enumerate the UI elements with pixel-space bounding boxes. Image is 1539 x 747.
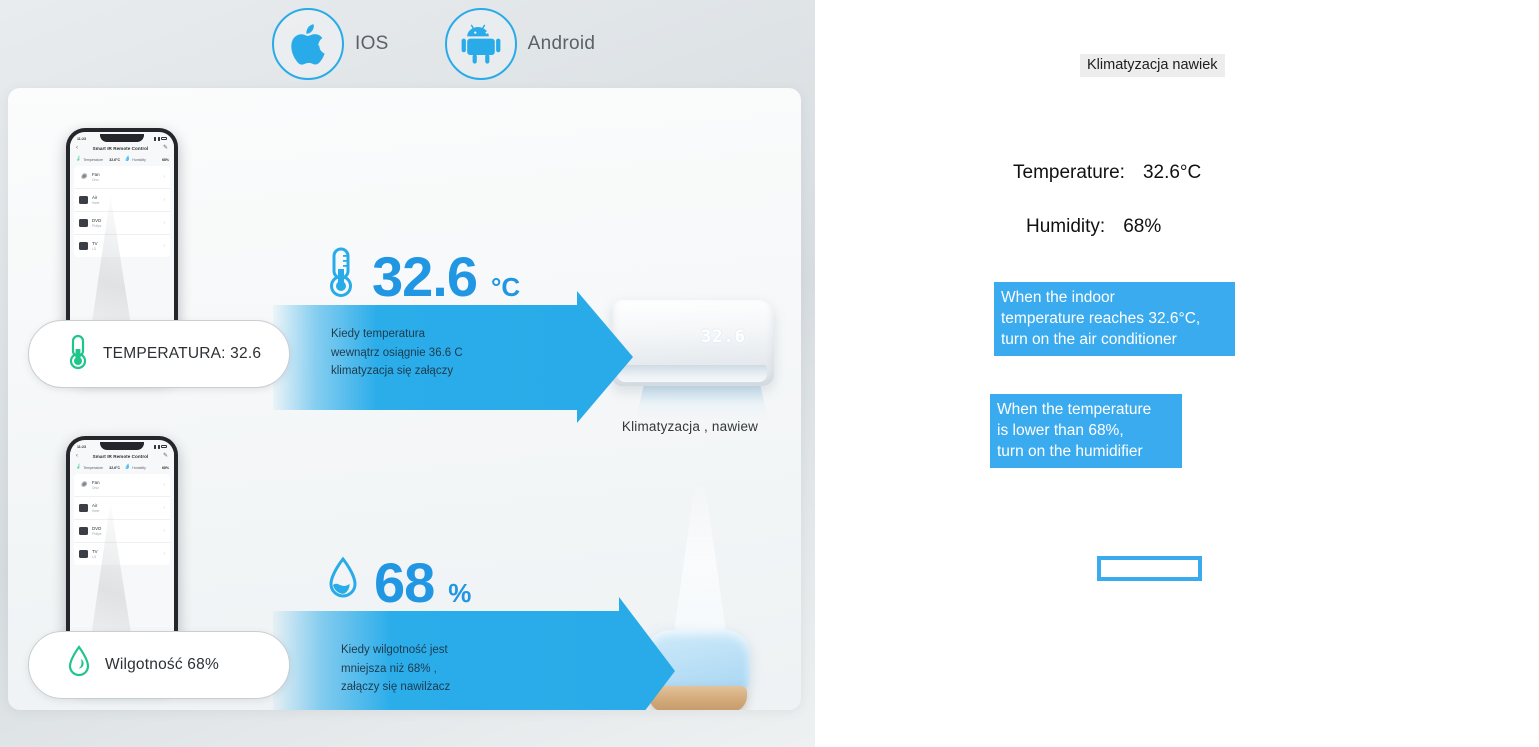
app-header: ‹ Smart IR Remote Control ✎ xyxy=(70,451,174,463)
translation-annotation-panel xyxy=(815,0,1539,747)
pencil-edit-icon[interactable]: ✎ xyxy=(163,145,168,151)
device-brand: Philips xyxy=(92,532,101,536)
device-name: DVD xyxy=(92,218,101,223)
wifi-icon xyxy=(158,137,160,141)
temperature-arrow-banner: Kiedy temperatura wewnątrz osiągnie 36.6… xyxy=(273,305,579,410)
sensor-value: 32.6°C xyxy=(109,466,120,470)
chevron-right-icon: › xyxy=(163,528,165,534)
chevron-left-icon[interactable]: ‹ xyxy=(76,145,78,151)
list-item[interactable]: TV LG › xyxy=(74,543,170,565)
list-item-text: DVD Philips xyxy=(92,218,101,228)
humidity-arrow-banner: Kiedy wilgotność jest mniejsza niż 68% ,… xyxy=(273,611,621,710)
android-robot-icon xyxy=(445,8,517,80)
device-name: Air xyxy=(92,195,100,200)
device-list: ✺ Fan Orso › Air Haier xyxy=(74,474,170,565)
app-title: Smart IR Remote Control xyxy=(93,454,149,459)
list-item-text: DVD Philips xyxy=(92,526,101,536)
battery-icon xyxy=(161,137,167,141)
fan-icon: ✺ xyxy=(79,173,88,181)
device-brand: LG xyxy=(92,247,98,251)
status-icons xyxy=(154,445,167,449)
list-item[interactable]: Air Haier › xyxy=(74,189,170,212)
temperature-callout-pill: TEMPERATURA: 32.6 xyxy=(28,320,290,388)
device-list: ✺ Fan Orso › Air Haier xyxy=(74,166,170,257)
ac-icon xyxy=(79,196,88,204)
ac-vent xyxy=(617,365,767,382)
status-time: 11:23 xyxy=(77,445,86,449)
list-item[interactable]: DVD Philips › xyxy=(74,212,170,235)
platform-ios-label: IOS xyxy=(355,33,389,55)
readout-label: Humidity: xyxy=(1026,216,1105,238)
sensor-chips: 🌡 Temperature 32.6°C 💧 Humidity 68% xyxy=(70,155,174,166)
ac-led-display: 32.6 xyxy=(701,327,746,347)
device-name: Fan xyxy=(92,172,100,177)
humidity-metric: 68 % xyxy=(326,556,471,609)
chevron-right-icon: › xyxy=(163,220,165,226)
signal-icon xyxy=(154,445,156,449)
device-brand: Haier xyxy=(92,509,100,513)
readout-humidity: Humidity: 68% xyxy=(1026,216,1161,238)
temperature-metric: 32.6 °C xyxy=(324,246,520,303)
temperature-callout-label: TEMPERATURA: 32.6 xyxy=(103,345,261,363)
sensor-value: 68% xyxy=(162,466,169,470)
thermometer-icon: 🌡 xyxy=(75,157,81,162)
platform-android: Android xyxy=(445,8,596,80)
chevron-right-icon: › xyxy=(163,174,165,180)
app-header: ‹ Smart IR Remote Control ✎ xyxy=(70,143,174,155)
device-name: Air xyxy=(92,503,100,508)
chevron-right-icon: › xyxy=(163,505,165,511)
chevron-right-icon: › xyxy=(163,482,165,488)
fan-icon: ✺ xyxy=(79,481,88,489)
sensor-label: Temperature xyxy=(83,466,103,470)
status-time: 11:23 xyxy=(77,137,86,141)
wifi-icon xyxy=(158,445,160,449)
arrow-head xyxy=(619,597,675,710)
readout-label: Temperature: xyxy=(1013,162,1125,184)
device-brand: LG xyxy=(92,555,98,559)
sensor-label: Temperature xyxy=(83,158,103,162)
humidity-callout-pill: Wilgotność 68% xyxy=(28,631,290,699)
battery-icon xyxy=(161,445,167,449)
platform-badges: IOS Android xyxy=(272,8,595,80)
thermometer-icon xyxy=(324,246,358,303)
water-drop-icon: 💧 xyxy=(124,157,130,162)
phone-notch xyxy=(100,134,144,142)
list-item-text: Fan Orso xyxy=(92,480,100,490)
list-item-text: TV LG xyxy=(92,241,98,251)
pencil-edit-icon[interactable]: ✎ xyxy=(163,453,168,459)
status-icons xyxy=(154,137,167,141)
thermometer-icon: 🌡 xyxy=(75,465,81,470)
chevron-left-icon[interactable]: ‹ xyxy=(76,453,78,459)
device-name: TV xyxy=(92,549,98,554)
device-brand: Haier xyxy=(92,201,100,205)
list-item-text: Fan Orso xyxy=(92,172,100,182)
list-item-text: TV LG xyxy=(92,549,98,559)
note-humidifier-rule: When the temperature is lower than 68%, … xyxy=(990,394,1182,468)
chevron-right-icon: › xyxy=(163,243,165,249)
signal-icon xyxy=(154,137,156,141)
sensor-chip-temperature: 🌡 Temperature 32.6°C xyxy=(75,157,120,162)
readout-value: 32.6°C xyxy=(1143,162,1201,184)
sensor-label: Humidity xyxy=(132,158,146,162)
device-name: TV xyxy=(92,241,98,246)
temperature-rule-text: Kiedy temperatura wewnątrz osiągnie 36.6… xyxy=(331,325,463,381)
app-title: Smart IR Remote Control xyxy=(93,146,149,151)
list-item-text: Air Haier xyxy=(92,503,100,513)
phone-notch xyxy=(100,442,144,450)
sensor-chip-humidity: 💧 Humidity 68% xyxy=(124,157,169,162)
sensor-chip-humidity: 💧 Humidity 68% xyxy=(124,465,169,470)
product-infographic-panel: IOS Android xyxy=(0,0,815,747)
sensor-chips: 🌡 Temperature 32.6°C 💧 Humidity 68% xyxy=(70,463,174,474)
humidity-rule-text: Kiedy wilgotność jest mniejsza niż 68% ,… xyxy=(341,641,450,697)
temperature-value: 32.6 xyxy=(372,250,477,303)
list-item[interactable]: DVD Philips › xyxy=(74,520,170,543)
thermometer-icon xyxy=(67,334,89,375)
tv-icon xyxy=(79,242,88,250)
air-conditioner-image: 32.6 xyxy=(612,300,774,386)
readout-value: 68% xyxy=(1123,216,1161,238)
humidity-unit: % xyxy=(448,578,471,609)
air-conditioner-caption: Klimatyzacja , nawiew xyxy=(586,419,794,434)
platform-ios: IOS xyxy=(272,8,389,80)
device-brand: Philips xyxy=(92,224,101,228)
sensor-value: 32.6°C xyxy=(109,158,120,162)
screenshot-root: IOS Android xyxy=(0,0,1539,747)
humidifier-mist-graphic xyxy=(672,480,728,646)
chevron-right-icon: › xyxy=(163,197,165,203)
dvd-icon xyxy=(79,219,88,227)
device-name: DVD xyxy=(92,526,101,531)
ac-icon xyxy=(79,504,88,512)
tag-chip-klimatyzacja[interactable]: Klimatyzacja nawiek xyxy=(1080,54,1225,77)
apple-logo-icon xyxy=(272,8,344,80)
sensor-chip-temperature: 🌡 Temperature 32.6°C xyxy=(75,465,120,470)
readout-temperature: Temperature: 32.6°C xyxy=(1013,162,1201,184)
device-brand: Orso xyxy=(92,486,100,490)
list-item[interactable]: ✺ Fan Orso › xyxy=(74,474,170,497)
infographic-card: Kiedy temperatura wewnątrz osiągnie 36.6… xyxy=(8,88,801,710)
dvd-icon xyxy=(79,527,88,535)
device-name: Fan xyxy=(92,480,100,485)
humidity-callout-label: Wilgotność 68% xyxy=(105,656,219,674)
temperature-unit: °C xyxy=(491,272,520,303)
water-drop-icon xyxy=(67,645,91,686)
water-drop-icon: 💧 xyxy=(124,465,130,470)
platform-android-label: Android xyxy=(528,33,596,55)
note-air-conditioner-rule: When the indoor temperature reaches 32.6… xyxy=(994,282,1235,356)
water-drop-icon xyxy=(326,556,360,609)
list-item-text: Air Haier xyxy=(92,195,100,205)
humidity-value: 68 xyxy=(374,556,434,609)
chevron-right-icon: › xyxy=(163,551,165,557)
list-item[interactable]: Air Haier › xyxy=(74,497,170,520)
arrow-head xyxy=(577,291,633,423)
sensor-value: 68% xyxy=(162,158,169,162)
tv-icon xyxy=(79,550,88,558)
ac-airflow-graphic xyxy=(636,384,768,420)
list-item[interactable]: TV LG › xyxy=(74,235,170,257)
empty-annotation-box[interactable] xyxy=(1097,556,1202,581)
device-brand: Orso xyxy=(92,178,100,182)
sensor-label: Humidity xyxy=(132,466,146,470)
list-item[interactable]: ✺ Fan Orso › xyxy=(74,166,170,189)
